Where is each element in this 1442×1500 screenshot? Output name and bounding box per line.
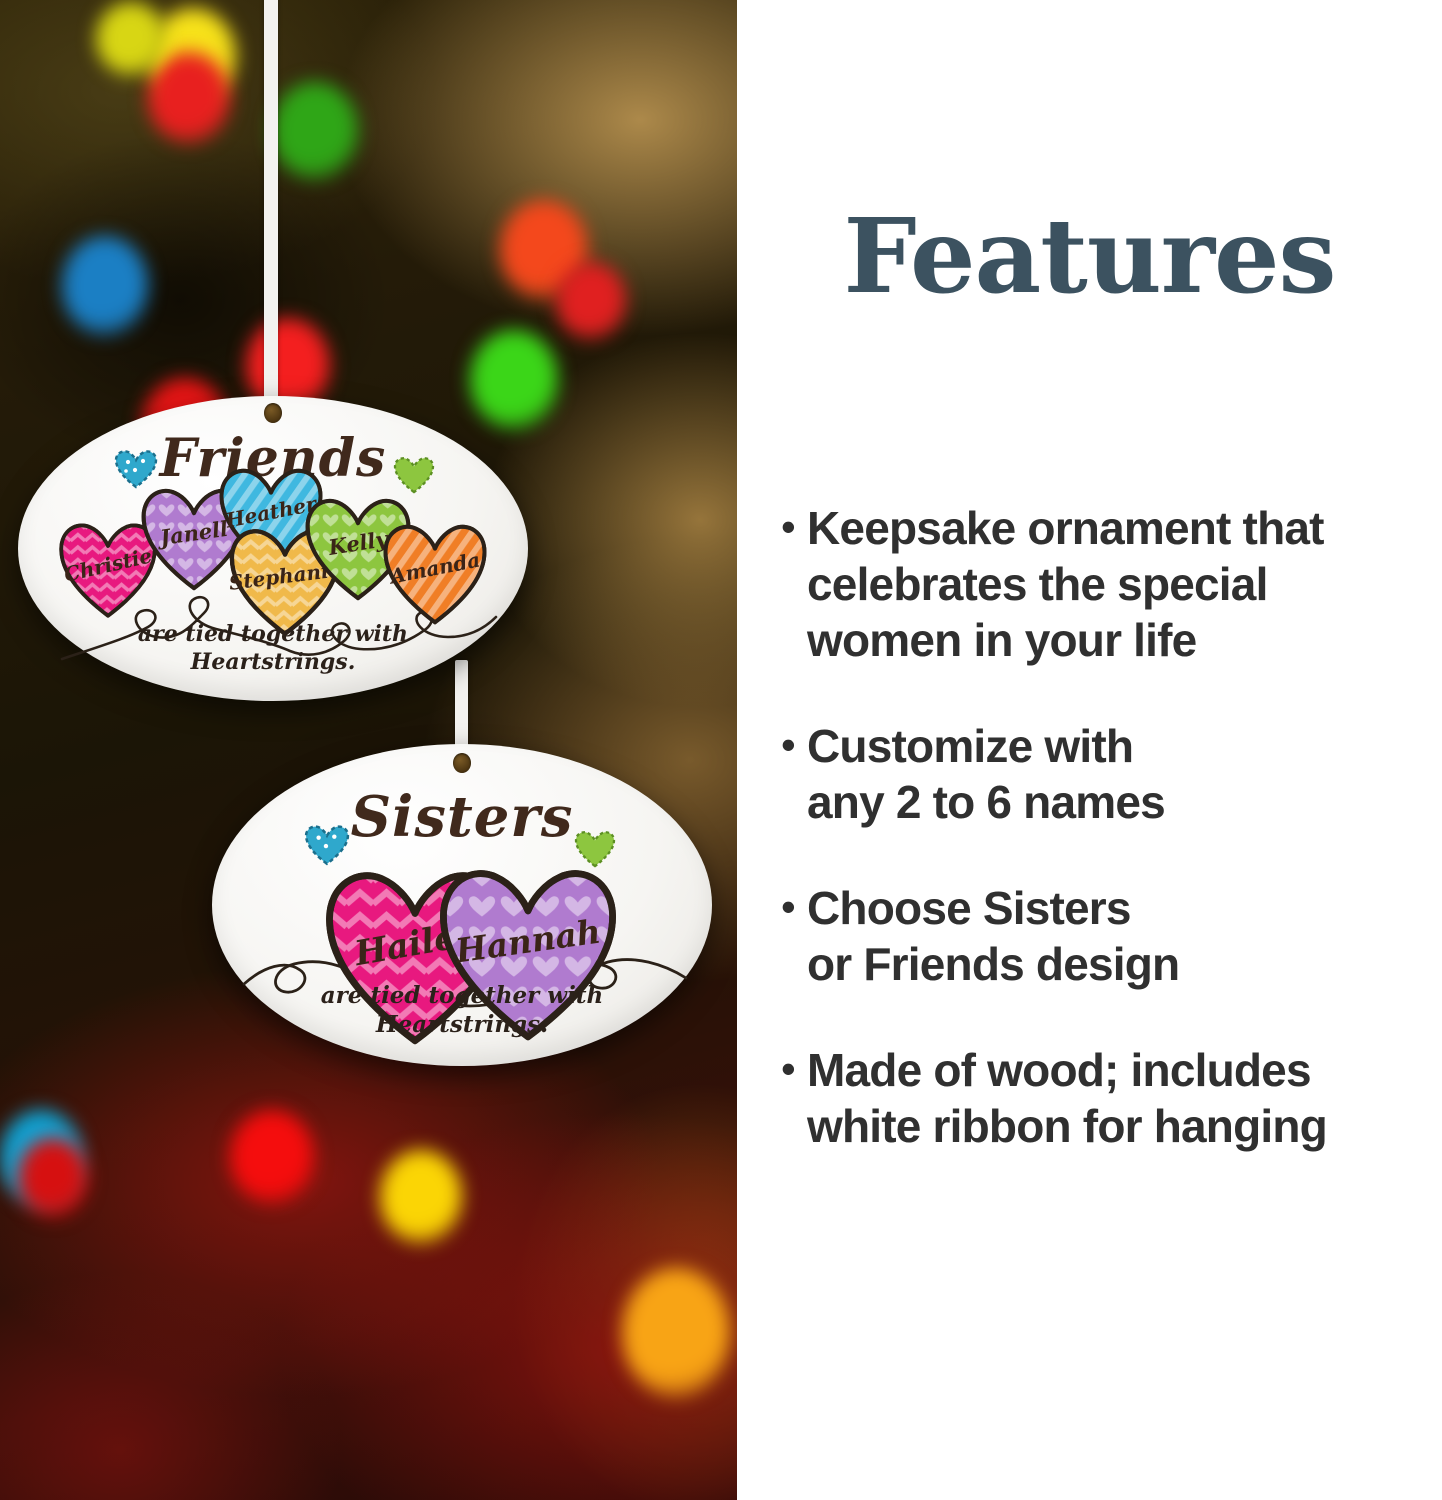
background-shadow-veil <box>0 0 737 1500</box>
green-stitched-heart <box>393 456 435 499</box>
sisters-ribbon-hole <box>453 753 471 773</box>
top-hanging-ribbon <box>264 0 278 406</box>
feature-bullet: •Made of wood; includes white ribbon for… <box>781 1042 1442 1154</box>
bokeh-light <box>230 1110 314 1204</box>
name-heart: Amanda <box>380 520 490 630</box>
sisters-tagline-line2: Heartstrings. <box>376 1011 548 1038</box>
sisters-tagline: are tied together with Heartstrings. <box>212 982 712 1040</box>
feature-bullet-text: Choose Sisters or Friends design <box>807 880 1179 992</box>
friends-tagline-line1: are tied together with <box>138 621 408 647</box>
bokeh-light <box>18 1138 88 1218</box>
bokeh-light <box>622 1268 730 1398</box>
bokeh-light <box>96 2 166 76</box>
bokeh-light <box>62 236 148 336</box>
sisters-title: Sisters <box>212 784 712 850</box>
friends-tagline-line2: Heartstrings. <box>191 649 356 675</box>
feature-bullet: •Choose Sisters or Friends design <box>781 880 1442 992</box>
ornament-friends[interactable]: Friends ChristieJanellHe <box>18 396 528 701</box>
features-bullet-list: •Keepsake ornament that celebrates the s… <box>781 500 1442 1204</box>
friends-tagline: are tied together with Heartstrings. <box>18 621 528 676</box>
feature-bullet: •Keepsake ornament that celebrates the s… <box>781 500 1442 668</box>
page-title: Features <box>737 205 1442 308</box>
bokeh-light <box>470 330 558 430</box>
sisters-tagline-line1: are tied together with <box>321 982 603 1009</box>
ornament-sisters[interactable]: Sisters HaileyHannah are tied tog <box>212 744 712 1066</box>
feature-bullet-text: Keepsake ornament that celebrates the sp… <box>807 500 1324 668</box>
bullet-marker-icon: • <box>781 500 807 554</box>
product-photo-panel: Friends ChristieJanellHe <box>0 0 737 1500</box>
bokeh-light <box>272 82 358 180</box>
features-panel: Features •Keepsake ornament that celebra… <box>737 0 1442 1500</box>
bullet-marker-icon: • <box>781 718 807 772</box>
feature-bullet-text: Customize with any 2 to 6 names <box>807 718 1165 830</box>
bullet-marker-icon: • <box>781 1042 807 1096</box>
bullet-marker-icon: • <box>781 880 807 934</box>
feature-bullet: •Customize with any 2 to 6 names <box>781 718 1442 830</box>
bokeh-light <box>556 262 626 340</box>
bokeh-light <box>148 52 230 144</box>
friends-ribbon-hole <box>264 403 282 423</box>
bokeh-light <box>380 1150 462 1244</box>
product-feature-image: Friends ChristieJanellHe <box>0 0 1442 1500</box>
feature-bullet-text: Made of wood; includes white ribbon for … <box>807 1042 1327 1154</box>
